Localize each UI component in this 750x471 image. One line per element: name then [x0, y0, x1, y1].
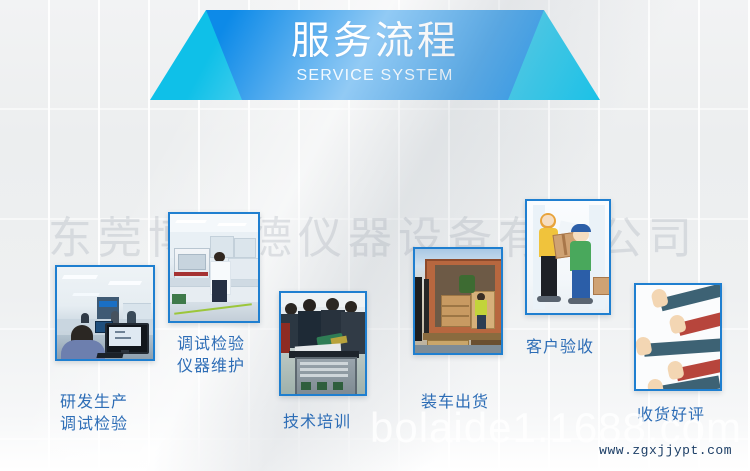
rd-production-office-photo — [57, 267, 153, 359]
step-caption-5-line1: 客户验收 — [526, 337, 594, 359]
step-caption-1-line2: 调试检验 — [60, 414, 128, 436]
step-caption-2-line1: 调试检验 — [177, 334, 245, 356]
step-caption-1: 研发生产 调试检验 — [60, 392, 128, 436]
step-caption-3-line1: 技术培训 — [283, 412, 351, 434]
step-photo-3 — [279, 291, 367, 396]
customer-acceptance-illustration — [527, 201, 609, 313]
step-caption-1-line1: 研发生产 — [60, 392, 128, 414]
banner-title-en: SERVICE SYSTEM — [297, 66, 454, 86]
calibration-lab-photo — [170, 214, 258, 321]
banner-title-cn: 服务流程 — [291, 19, 459, 65]
step-photo-4 — [413, 247, 503, 355]
header-banner: 服务流程 SERVICE SYSTEM — [150, 4, 600, 100]
site-url: www.zgxjjypt.com — [599, 443, 732, 458]
container-loading-photo — [415, 249, 501, 353]
step-photo-6 — [634, 283, 722, 391]
step-photo-2 — [168, 212, 260, 323]
step-photo-5 — [525, 199, 611, 315]
step-caption-3: 技术培训 — [283, 412, 351, 434]
thumbs-up-review-illustration — [636, 285, 720, 389]
step-caption-5: 客户验收 — [526, 337, 594, 359]
technical-training-photo — [281, 293, 365, 394]
step-photo-1 — [55, 265, 155, 361]
service-process-banner: 服务流程 SERVICE SYSTEM 东莞博莱德仪器设备有限公司 — [0, 0, 750, 471]
step-caption-2-line2: 仪器维护 — [177, 356, 245, 378]
step-caption-2: 调试检验 仪器维护 — [177, 334, 245, 378]
